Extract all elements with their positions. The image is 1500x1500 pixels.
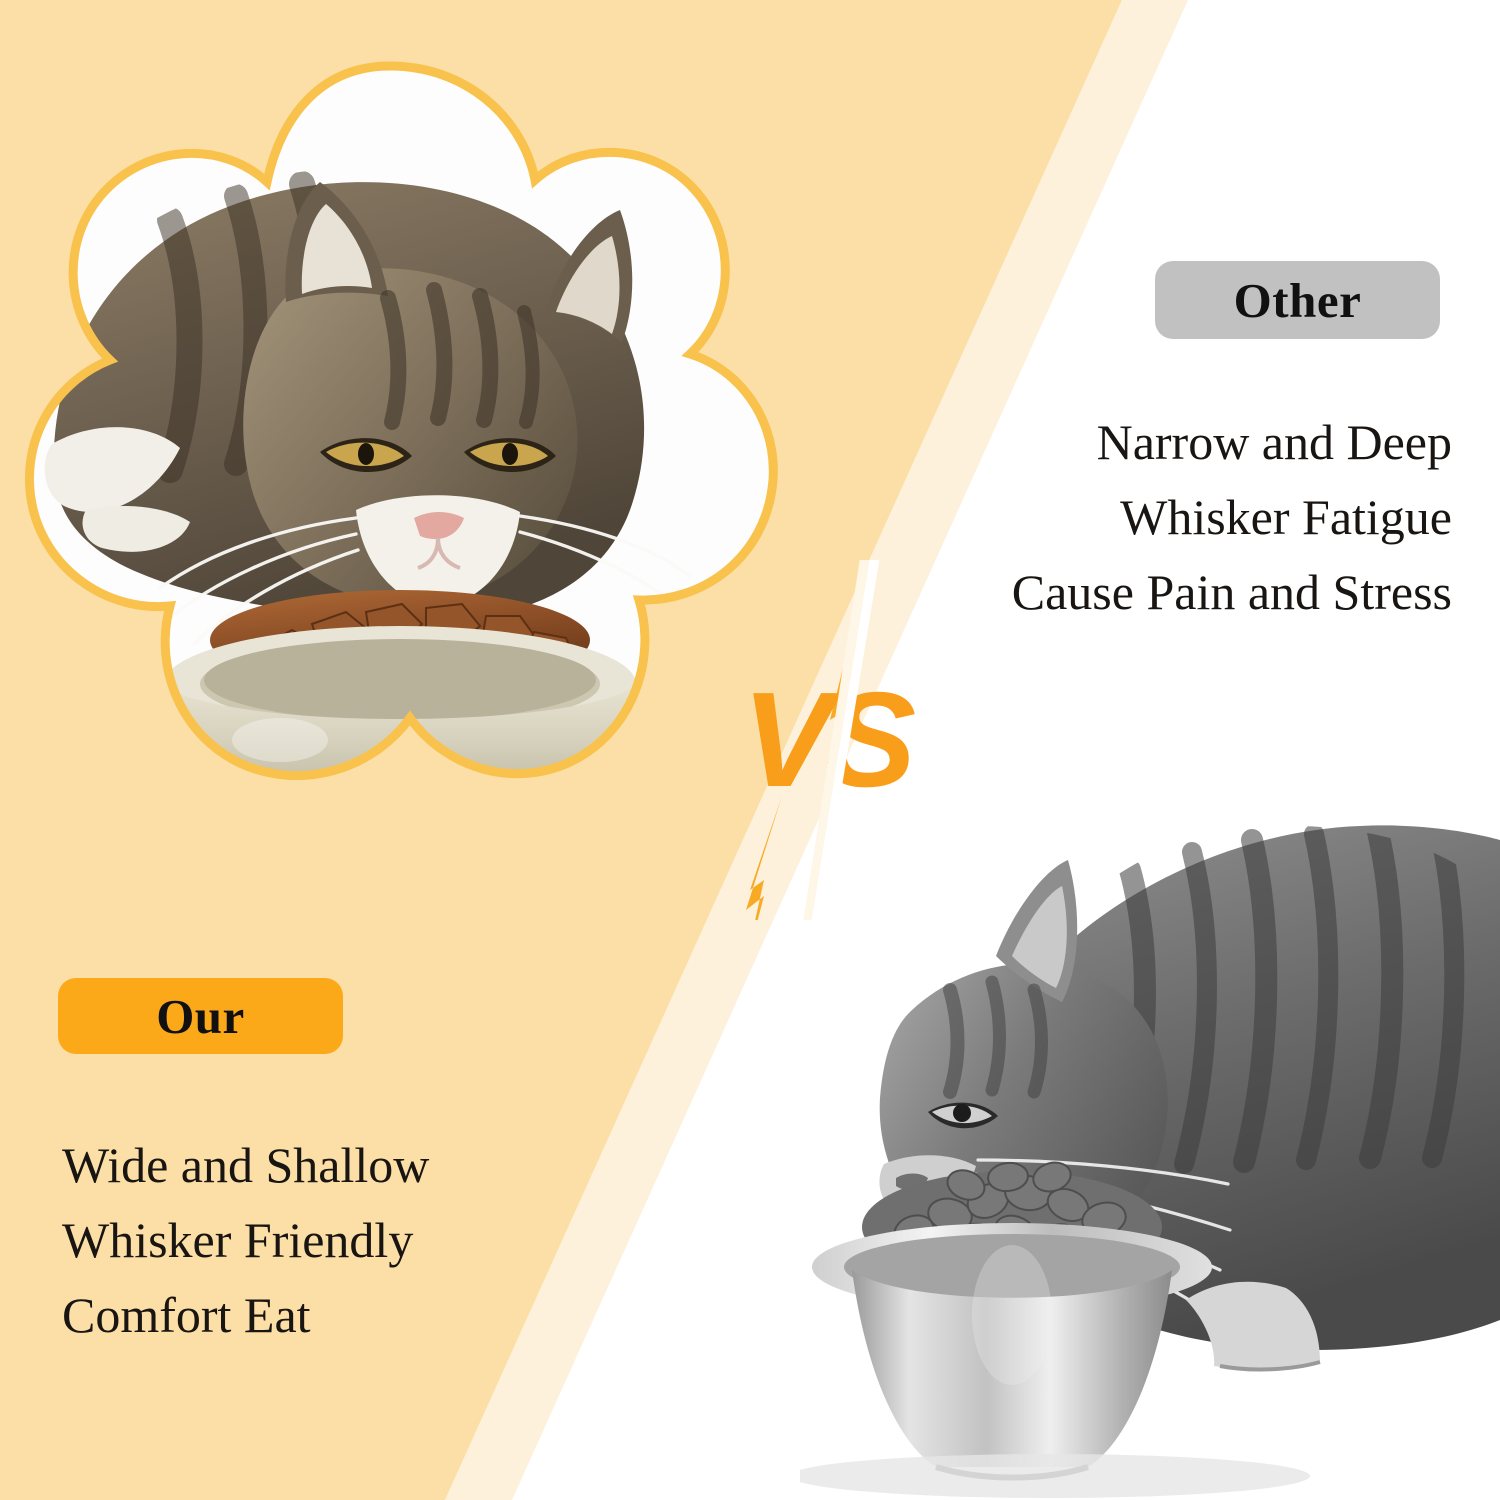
other-feature-2: Whisker Fatigue — [1012, 480, 1452, 555]
our-feature-list: Wide and Shallow Whisker Friendly Comfor… — [62, 1128, 429, 1353]
other-badge-label: Other — [1234, 272, 1362, 329]
other-badge: Other — [1155, 261, 1440, 339]
vs-label: VS — [742, 672, 910, 807]
our-feature-2: Whisker Friendly — [62, 1203, 429, 1278]
our-product-photo-frame — [0, 40, 790, 840]
our-feature-3: Comfort Eat — [62, 1278, 429, 1353]
vs-divider: VS — [690, 560, 990, 920]
other-feature-list: Narrow and Deep Whisker Fatigue Cause Pa… — [1012, 405, 1452, 630]
our-badge-label: Our — [156, 988, 245, 1045]
flower-frame-icon — [0, 40, 790, 840]
our-badge: Our — [58, 978, 343, 1054]
our-feature-1: Wide and Shallow — [62, 1128, 429, 1203]
wide-shallow-bowl — [164, 590, 636, 840]
other-feature-1: Narrow and Deep — [1012, 405, 1452, 480]
other-feature-3: Cause Pain and Stress — [1012, 555, 1452, 630]
infographic-canvas: VS Other Our Narrow and Deep Whisker Fat… — [0, 0, 1500, 1500]
cat-wet-food-illustration — [0, 40, 790, 840]
